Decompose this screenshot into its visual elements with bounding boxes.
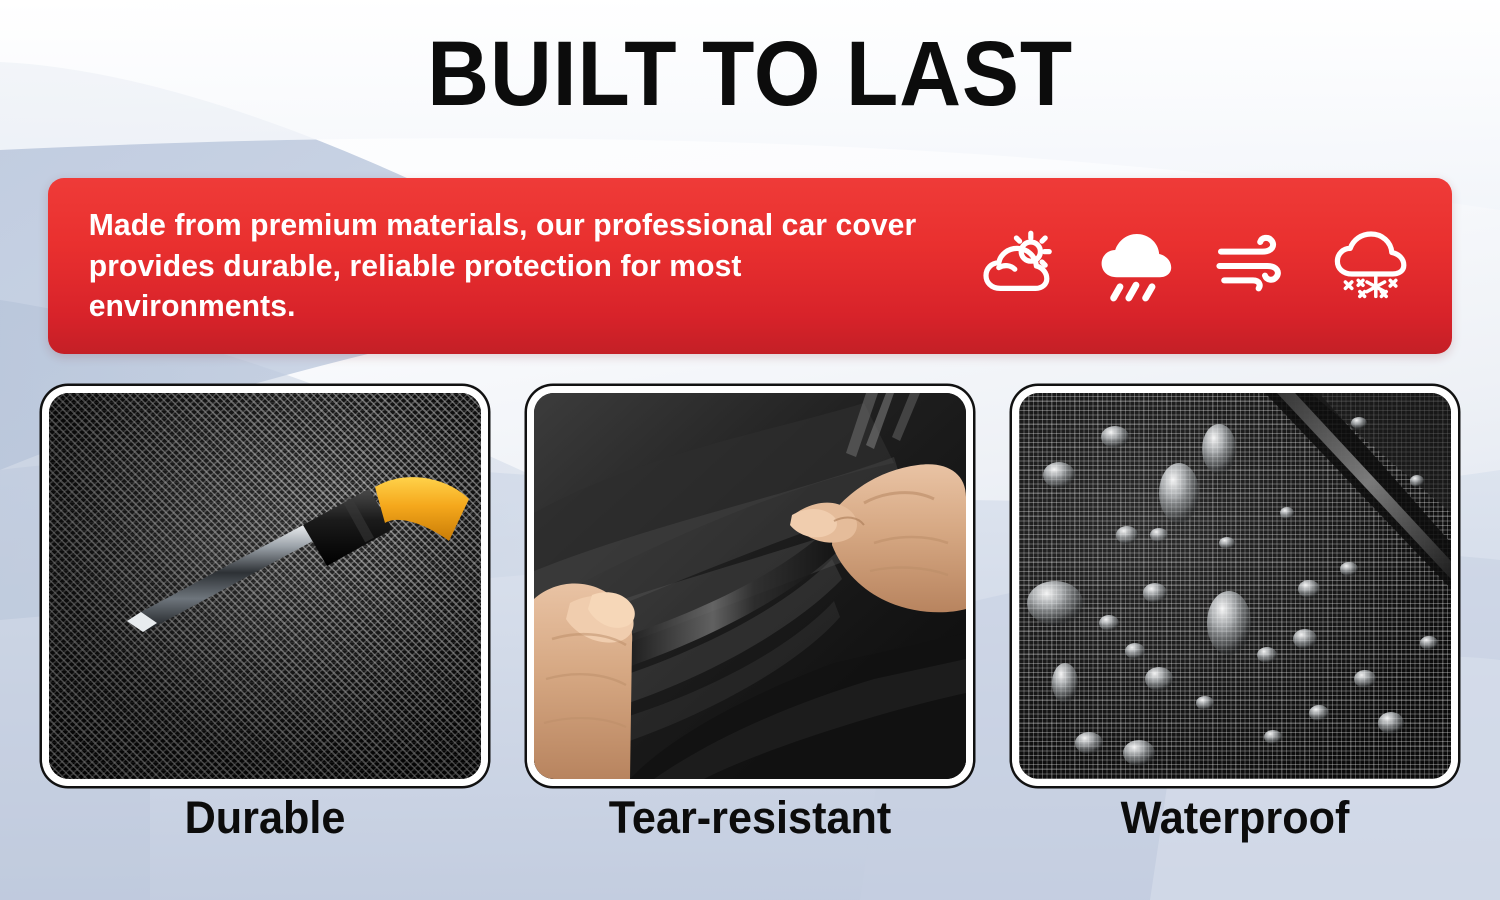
- rain-cloud-icon: [1092, 226, 1180, 306]
- feature-card-durable: [42, 386, 488, 786]
- stretched-material-illustration: [534, 393, 966, 779]
- feature-card-row: [42, 386, 1458, 786]
- weather-icon-group: [953, 226, 1452, 306]
- woven-fabric-screwdriver-photo: [49, 393, 481, 779]
- banner-description: Made from premium materials, our profess…: [48, 205, 926, 328]
- sun-behind-cloud-icon: [974, 226, 1062, 306]
- caption-durable: Durable: [51, 792, 479, 844]
- feature-card-tear-resistant: [527, 386, 973, 786]
- left-hand: [534, 584, 635, 779]
- snow-cloud-icon: [1327, 226, 1415, 306]
- wind-icon: [1209, 226, 1297, 306]
- water-beading-fabric-photo: [1019, 393, 1451, 779]
- headline-container: BUILT TO LAST: [0, 28, 1500, 120]
- feature-card-waterproof: [1012, 386, 1458, 786]
- water-droplets-illustration: [1019, 393, 1451, 779]
- feature-caption-row: Durable Tear-resistant Waterproof: [42, 792, 1458, 844]
- promo-banner: Made from premium materials, our profess…: [48, 178, 1452, 354]
- caption-waterproof: Waterproof: [1021, 792, 1449, 844]
- infographic-canvas: BUILT TO LAST Made from premium material…: [0, 0, 1500, 900]
- hands-stretching-material-photo: [534, 393, 966, 779]
- page-title: BUILT TO LAST: [427, 28, 1073, 120]
- screwdriver-graphic: [117, 471, 481, 701]
- caption-tear-resistant: Tear-resistant: [536, 792, 964, 844]
